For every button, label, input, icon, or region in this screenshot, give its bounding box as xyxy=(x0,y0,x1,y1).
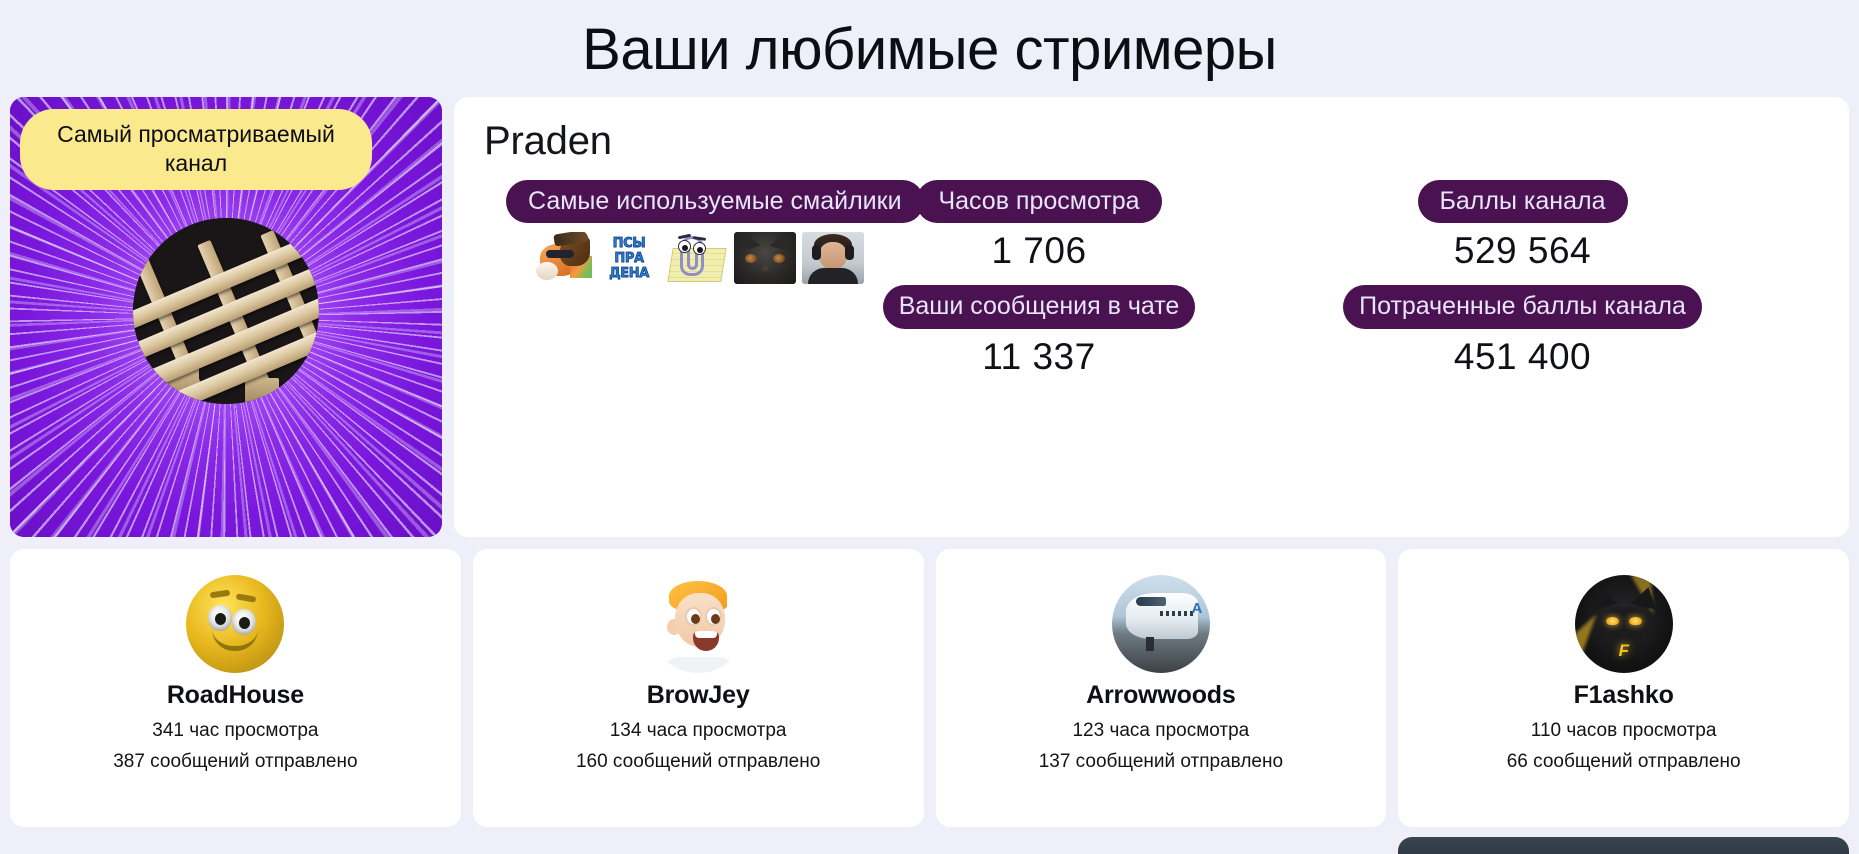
emote-text-line-3: ДЕНА xyxy=(609,266,649,281)
pallet-illustration xyxy=(133,218,319,404)
stat-label-channel-points: Баллы канала xyxy=(1418,180,1628,224)
emote-text-line-1: ПСЫ xyxy=(613,236,646,251)
streamer-card-f1ashko[interactable]: F F1ashko 110 часов просмотра 66 сообщен… xyxy=(1398,549,1849,827)
streamer-name: RoadHouse xyxy=(22,681,449,710)
stat-value-spent-points: 451 400 xyxy=(1224,336,1821,378)
streamer-messages-sent: 160 сообщений отправлено xyxy=(485,747,912,778)
peek-card-placeholder xyxy=(10,837,461,854)
featured-channel-tile[interactable]: Самый просматриваемый канал xyxy=(10,97,442,537)
main-channel-stats-panel: Praden Часов просмотра 1 706 Баллы канал… xyxy=(454,97,1849,537)
streamer-cards-row: RoadHouse 341 час просмотра 387 сообщени… xyxy=(0,537,1859,827)
channel-name: Praden xyxy=(484,119,1821,164)
stat-channel-points: Баллы канала 529 564 xyxy=(1224,180,1821,282)
cartoon-boy-avatar-icon[interactable] xyxy=(649,575,747,673)
streamer-card-arrowwoods[interactable]: A Arrowwoods 123 часа просмотра 137 сооб… xyxy=(936,549,1387,827)
most-watched-channel-badge: Самый просматриваемый канал xyxy=(20,109,372,190)
streamer-watch-hours: 123 часа просмотра xyxy=(948,716,1375,747)
stats-grid: Часов просмотра 1 706 Баллы канала 529 5… xyxy=(484,180,1821,387)
streamer-messages-sent: 387 сообщений отправлено xyxy=(22,747,449,778)
emote-text-line-2: ПРА xyxy=(614,251,643,266)
stat-label-top-emotes: Самые используемые смайлики xyxy=(506,180,924,224)
peek-card-image[interactable] xyxy=(1398,837,1849,854)
streamer-messages-sent: 137 сообщений отправлено xyxy=(948,747,1375,778)
streamer-card-roadhouse[interactable]: RoadHouse 341 час просмотра 387 сообщени… xyxy=(10,549,461,827)
streamer-watch-hours: 110 часов просмотра xyxy=(1410,716,1837,747)
psy-pra-dena-text-emote-icon[interactable]: ПСЫ ПРА ДЕНА xyxy=(598,232,660,284)
cartoon-horse-emote-icon[interactable] xyxy=(530,232,592,284)
peek-card-placeholder xyxy=(473,837,924,854)
stat-label-spent-points: Потраченные баллы канала xyxy=(1343,285,1702,329)
stat-value-chat-messages: 11 337 xyxy=(854,336,1224,378)
lightning-cat-avatar-icon[interactable]: F xyxy=(1575,575,1673,673)
stat-chat-messages: Ваши сообщения в чате 11 337 xyxy=(854,285,1224,387)
black-cat-photo-emote-icon[interactable] xyxy=(734,232,796,284)
streamer-messages-sent: 66 сообщений отправлено xyxy=(1410,747,1837,778)
airplane-photo-avatar-icon[interactable]: A xyxy=(1112,575,1210,673)
page-title: Ваши любимые стримеры xyxy=(0,0,1859,97)
streamer-card-browjey[interactable]: BrowJey 134 часа просмотра 160 сообщений… xyxy=(473,549,924,827)
person-headphones-photo-emote-icon[interactable] xyxy=(802,232,864,284)
stat-label-chat-messages: Ваши сообщения в чате xyxy=(883,285,1196,329)
top-emotes-block: Самые используемые смайлики ПСЫ ПРА ДЕНА xyxy=(484,180,854,387)
streamer-watch-hours: 134 часа просмотра xyxy=(485,716,912,747)
stat-value-channel-points: 529 564 xyxy=(1224,230,1821,272)
streamer-name: Arrowwoods xyxy=(948,681,1375,710)
clippy-paperclip-emote-icon[interactable] xyxy=(666,232,728,284)
hero-row: Самый просматриваемый канал Praden Часов… xyxy=(0,97,1859,537)
top-emotes-row: ПСЫ ПРА ДЕНА xyxy=(506,232,854,284)
streamer-name: BrowJey xyxy=(485,681,912,710)
peek-card-placeholder xyxy=(936,837,1387,854)
streamer-name: F1ashko xyxy=(1410,681,1837,710)
stat-spent-points: Потраченные баллы канала 451 400 xyxy=(1224,285,1821,387)
stat-value-watch-hours: 1 706 xyxy=(854,230,1224,272)
wooden-pallet-avatar-icon[interactable] xyxy=(133,218,319,404)
stat-label-watch-hours: Часов просмотра xyxy=(916,180,1161,224)
next-row-peek xyxy=(0,837,1859,854)
yellow-smiley-avatar-icon[interactable] xyxy=(186,575,284,673)
streamer-watch-hours: 341 час просмотра xyxy=(22,716,449,747)
